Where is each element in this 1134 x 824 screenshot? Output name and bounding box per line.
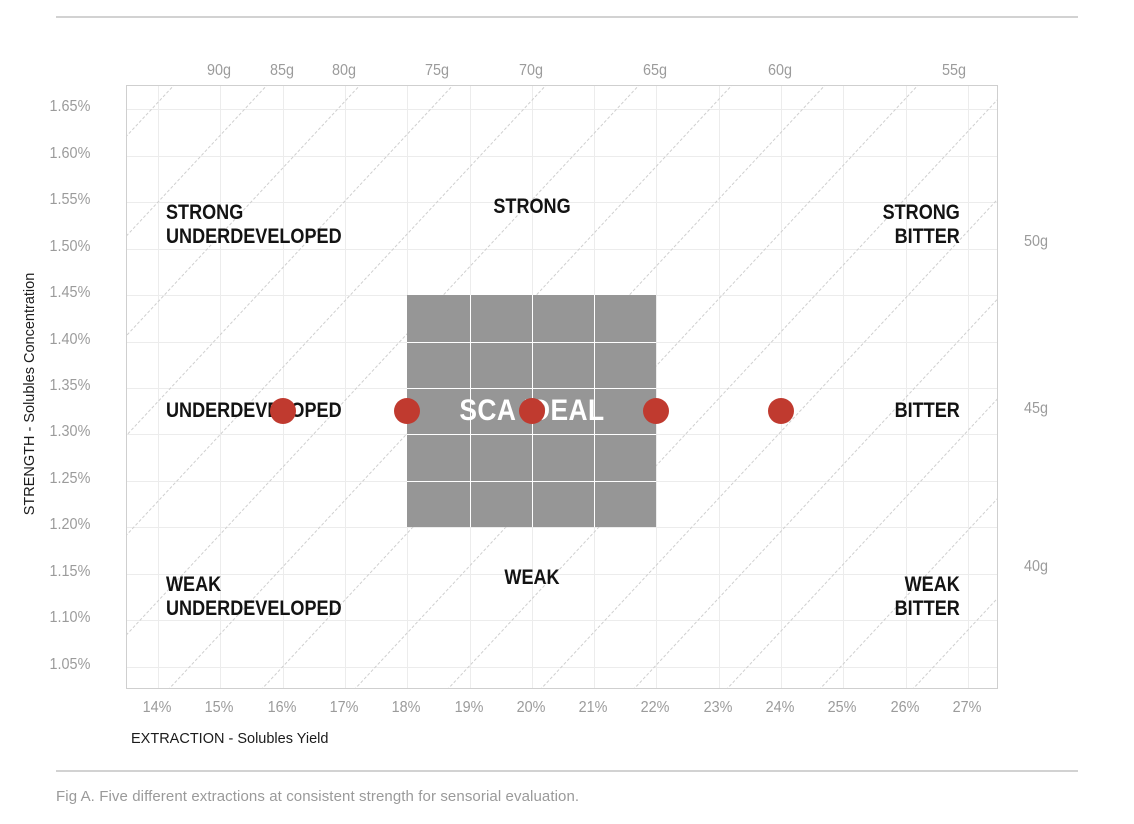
zone-label-line: STRONG xyxy=(166,201,342,225)
y-tick-label: 1.60% xyxy=(49,145,90,163)
zone-label-line: UNDERDEVELOPED xyxy=(166,399,342,423)
gridline-h xyxy=(127,156,997,157)
right-tick-label: 50g xyxy=(1024,233,1048,251)
gridline-v xyxy=(843,86,844,688)
x-tick-label: 15% xyxy=(205,699,234,717)
divider-top xyxy=(56,16,1078,18)
x-tick-label: 18% xyxy=(392,699,421,717)
y-tick-label: 1.10% xyxy=(49,609,90,627)
zone-label-underdeveloped: UNDERDEVELOPED xyxy=(166,399,342,423)
x-tick-label: 19% xyxy=(454,699,483,717)
figure-caption: Fig A. Five different extractions at con… xyxy=(56,788,579,805)
divider-bottom xyxy=(56,770,1078,772)
top-tick-label: 65g xyxy=(643,62,667,80)
zone-label-line: STRONG xyxy=(493,195,570,219)
data-point[interactable] xyxy=(394,398,420,424)
zone-label-line: BITTER xyxy=(883,225,960,249)
gridline-v xyxy=(656,86,657,688)
y-tick-label: 1.05% xyxy=(49,656,90,674)
zone-label-bitter: BITTER xyxy=(895,399,960,423)
zone-label-line: UNDERDEVELOPED xyxy=(166,225,342,249)
zone-label-line: STRONG xyxy=(883,201,960,225)
top-tick-label: 85g xyxy=(270,62,294,80)
top-tick-label: 55g xyxy=(942,62,966,80)
x-tick-label: 23% xyxy=(703,699,732,717)
top-tick-label: 70g xyxy=(519,62,543,80)
data-point[interactable] xyxy=(768,398,794,424)
x-tick-label: 24% xyxy=(766,699,795,717)
y-tick-label: 1.15% xyxy=(49,563,90,581)
zone-label-line: WEAK xyxy=(895,573,960,597)
gridline-h xyxy=(127,109,997,110)
x-tick-label: 25% xyxy=(828,699,857,717)
zone-label-line: BITTER xyxy=(895,399,960,423)
x-axis-title: EXTRACTION - Solubles Yield xyxy=(131,731,328,747)
zone-label-weak-bitter: WEAKBITTER xyxy=(895,573,960,621)
zone-label-strong-underdeveloped: STRONGUNDERDEVELOPED xyxy=(166,201,342,249)
x-tick-label: 17% xyxy=(330,699,359,717)
x-tick-label: 16% xyxy=(267,699,296,717)
gridline-v xyxy=(968,86,969,688)
top-tick-label: 75g xyxy=(425,62,449,80)
right-tick-label: 40g xyxy=(1024,558,1048,576)
zone-label-line: WEAK xyxy=(166,573,342,597)
x-tick-label: 21% xyxy=(579,699,608,717)
zone-label-strong-bitter: STRONGBITTER xyxy=(883,201,960,249)
y-axis-title: STRENGTH - Solubles Concentration xyxy=(22,234,38,554)
gridline-h xyxy=(127,527,997,528)
zone-label-strong: STRONG xyxy=(493,195,570,219)
zone-label-line: WEAK xyxy=(504,566,559,590)
figure-container: SCA IDEAL STRONGUNDERDEVELOPEDSTRONGSTRO… xyxy=(0,0,1134,824)
x-tick-label: 26% xyxy=(890,699,919,717)
data-point[interactable] xyxy=(270,398,296,424)
x-tick-label: 22% xyxy=(641,699,670,717)
zone-label-weak: WEAK xyxy=(504,566,559,590)
y-tick-label: 1.50% xyxy=(49,238,90,256)
y-tick-label: 1.20% xyxy=(49,516,90,534)
zone-label-line: UNDERDEVELOPED xyxy=(166,597,342,621)
brew-control-chart-plot: SCA IDEAL STRONGUNDERDEVELOPEDSTRONGSTRO… xyxy=(126,85,998,689)
y-tick-label: 1.35% xyxy=(49,377,90,395)
zone-label-weak-underdeveloped: WEAKUNDERDEVELOPED xyxy=(166,573,342,621)
brew-ratio-line xyxy=(781,85,998,689)
y-tick-label: 1.45% xyxy=(49,284,90,302)
right-tick-label: 45g xyxy=(1024,400,1048,418)
data-point[interactable] xyxy=(519,398,545,424)
zone-label-line: BITTER xyxy=(895,597,960,621)
gridline-v xyxy=(781,86,782,688)
x-tick-label: 27% xyxy=(952,699,981,717)
brew-ratio-line xyxy=(967,85,998,689)
top-tick-label: 80g xyxy=(332,62,356,80)
y-tick-label: 1.40% xyxy=(49,331,90,349)
y-tick-label: 1.65% xyxy=(49,98,90,116)
data-point[interactable] xyxy=(643,398,669,424)
y-tick-label: 1.30% xyxy=(49,423,90,441)
top-tick-label: 60g xyxy=(768,62,792,80)
x-tick-label: 14% xyxy=(143,699,172,717)
y-tick-label: 1.55% xyxy=(49,191,90,209)
y-tick-label: 1.25% xyxy=(49,470,90,488)
x-tick-label: 20% xyxy=(516,699,545,717)
top-tick-label: 90g xyxy=(207,62,231,80)
